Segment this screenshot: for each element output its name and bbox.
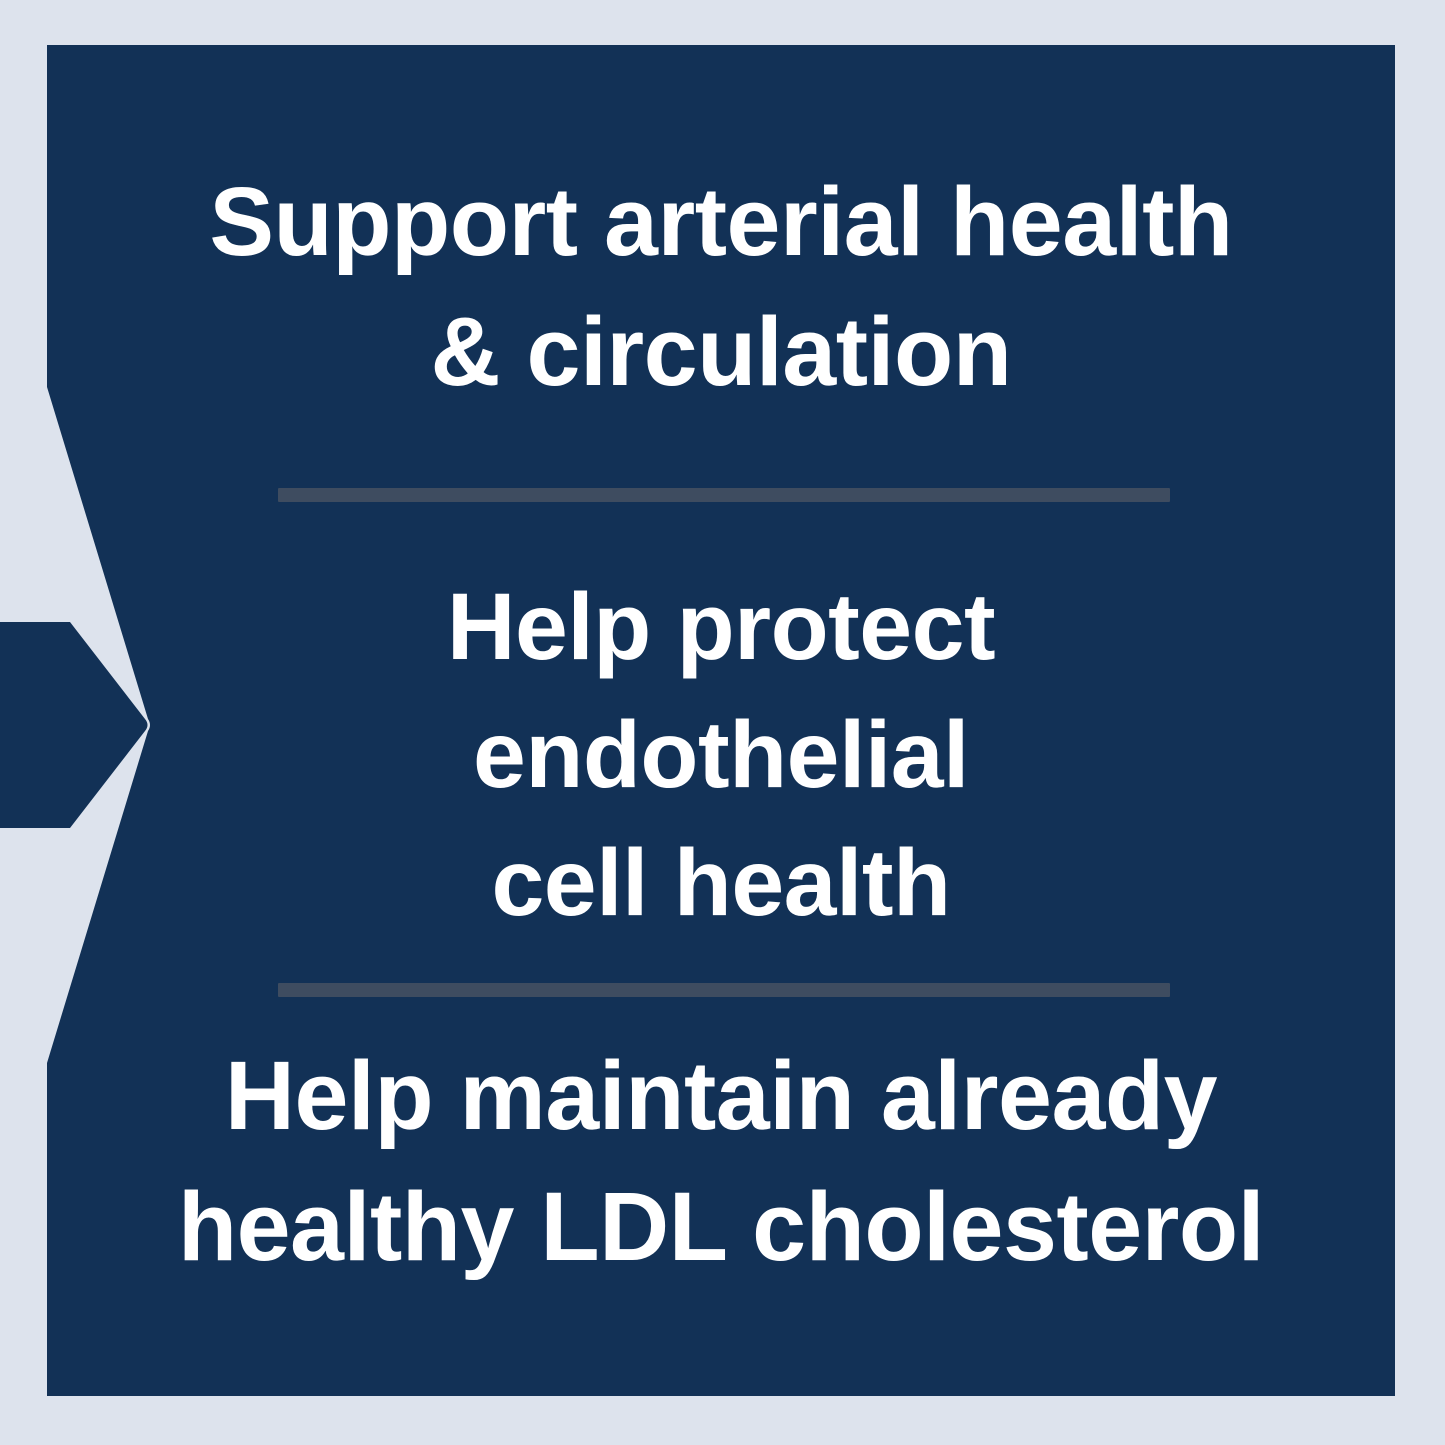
section-divider (278, 488, 1170, 502)
benefit-line: Help protect (47, 563, 1395, 691)
benefit-item-ldl-cholesterol: Help maintain already healthy LDL choles… (47, 1030, 1395, 1292)
benefit-item-endothelial-cell-health: Help protect endothelial cell health (47, 563, 1395, 947)
benefits-content: Support arterial health & circulation He… (47, 45, 1395, 1396)
benefit-line: cell health (47, 819, 1395, 947)
benefit-item-arterial-health: Support arterial health & circulation (47, 157, 1395, 417)
benefit-line: Help maintain already (47, 1030, 1395, 1161)
benefit-line: & circulation (47, 287, 1395, 417)
section-divider (278, 983, 1170, 997)
benefit-line: Support arterial health (47, 157, 1395, 287)
benefit-line: endothelial (47, 691, 1395, 819)
benefit-line: healthy LDL cholesterol (47, 1161, 1395, 1292)
product-benefits-card: Support arterial health & circulation He… (0, 0, 1445, 1445)
